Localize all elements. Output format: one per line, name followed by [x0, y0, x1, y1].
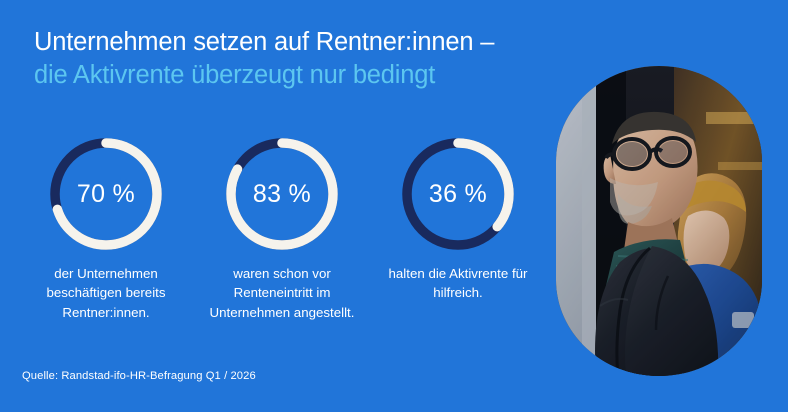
donut-chart-3: 36 % [402, 138, 514, 250]
stat-caption-1: der Unternehmen beschäftigen bereits Ren… [20, 264, 192, 322]
donut-chart-1: 70 % [50, 138, 162, 250]
stat-item: 36 % halten die Aktivrente für hilfreich… [370, 138, 546, 303]
stats-row: 70 % der Unternehmen beschäftigen bereit… [18, 138, 548, 322]
headline-line-1: Unternehmen setzen auf Rentner:innen – [34, 26, 554, 59]
photo-illustration [556, 66, 762, 376]
photo-portrait [556, 66, 762, 376]
stat-item: 70 % der Unternehmen beschäftigen bereit… [18, 138, 194, 322]
stat-caption-2: waren schon vor Renteneintritt im Untern… [194, 264, 370, 322]
infographic-canvas: Unternehmen setzen auf Rentner:innen – d… [0, 0, 788, 412]
donut-value-label-2: 83 % [226, 138, 338, 250]
donut-value-label-1: 70 % [50, 138, 162, 250]
stat-caption-3: halten die Aktivrente für hilfreich. [370, 264, 546, 303]
headline-line-2: die Aktivrente überzeugt nur bedingt [34, 59, 554, 92]
source-note: Quelle: Randstad-ifo-HR-Befragung Q1 / 2… [22, 370, 256, 382]
page-title: Unternehmen setzen auf Rentner:innen – d… [34, 26, 554, 91]
donut-value-label-3: 36 % [402, 138, 514, 250]
donut-chart-2: 83 % [226, 138, 338, 250]
stat-item: 83 % waren schon vor Renteneintritt im U… [194, 138, 370, 322]
